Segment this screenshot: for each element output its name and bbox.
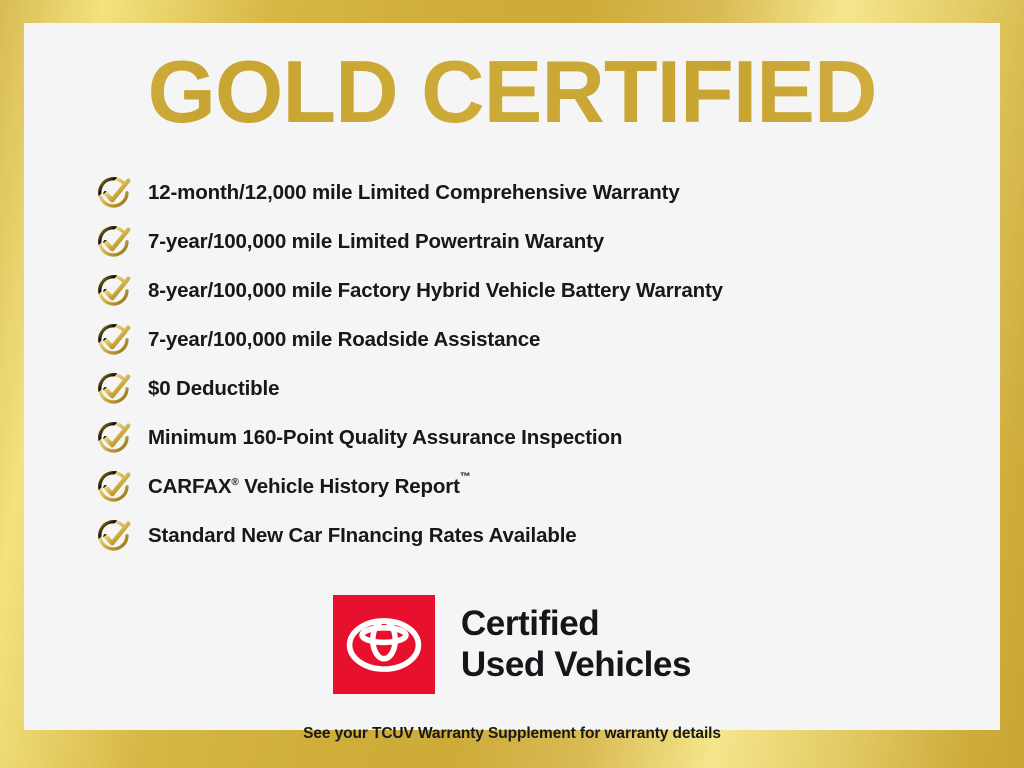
gold-check-icon	[94, 418, 134, 458]
list-item: Minimum 160-Point Quality Assurance Insp…	[94, 413, 994, 462]
gold-check-icon	[94, 320, 134, 360]
content-card: GOLD CERTIFIED	[24, 23, 1000, 730]
gold-check-icon	[94, 467, 134, 507]
gold-check-icon	[94, 271, 134, 311]
benefit-label: 7-year/100,000 mile Roadside Assistance	[148, 328, 540, 352]
carfax-wordmark: CARFAX	[148, 475, 231, 498]
registered-mark: ®	[231, 477, 238, 488]
carfax-suffix: Vehicle History Report	[239, 475, 460, 498]
warranty-footnote: See your TCUV Warranty Supplement for wa…	[24, 725, 1000, 743]
trademark-mark: ™	[460, 471, 471, 483]
lockup-line-2: Used Vehicles	[461, 645, 691, 686]
list-item: Standard New Car FInancing Rates Availab…	[94, 511, 994, 560]
benefit-label: Standard New Car FInancing Rates Availab…	[148, 524, 577, 548]
list-item: 7-year/100,000 mile Roadside Assistance	[94, 315, 994, 364]
list-item: 7-year/100,000 mile Limited Powertrain W…	[94, 217, 994, 266]
list-item: 12-month/12,000 mile Limited Comprehensi…	[94, 168, 994, 217]
gold-check-icon	[94, 173, 134, 213]
gold-certified-banner: GOLD CERTIFIED	[0, 0, 1024, 768]
list-item: $0 Deductible	[94, 364, 994, 413]
list-item: 8-year/100,000 mile Factory Hybrid Vehic…	[94, 266, 994, 315]
benefit-label: Minimum 160-Point Quality Assurance Insp…	[148, 426, 622, 450]
toyota-emblem-icon	[333, 595, 435, 694]
list-item: CARFAX® Vehicle History Report™	[94, 462, 994, 511]
gold-check-icon	[94, 222, 134, 262]
toyota-certified-used-vehicles-lockup: Certified Used Vehicles	[24, 595, 1000, 694]
benefit-label: 7-year/100,000 mile Limited Powertrain W…	[148, 230, 604, 254]
benefit-label: 8-year/100,000 mile Factory Hybrid Vehic…	[148, 279, 723, 303]
benefit-label: CARFAX® Vehicle History Report™	[148, 475, 471, 499]
gold-check-icon	[94, 369, 134, 409]
page-title: GOLD CERTIFIED	[24, 48, 1000, 136]
lockup-line-1: Certified	[461, 604, 691, 645]
benefits-list: 12-month/12,000 mile Limited Comprehensi…	[94, 168, 994, 560]
gold-check-icon	[94, 516, 134, 556]
benefit-label: $0 Deductible	[148, 377, 279, 401]
benefit-label: 12-month/12,000 mile Limited Comprehensi…	[148, 181, 680, 205]
lockup-wordmark: Certified Used Vehicles	[461, 604, 691, 685]
